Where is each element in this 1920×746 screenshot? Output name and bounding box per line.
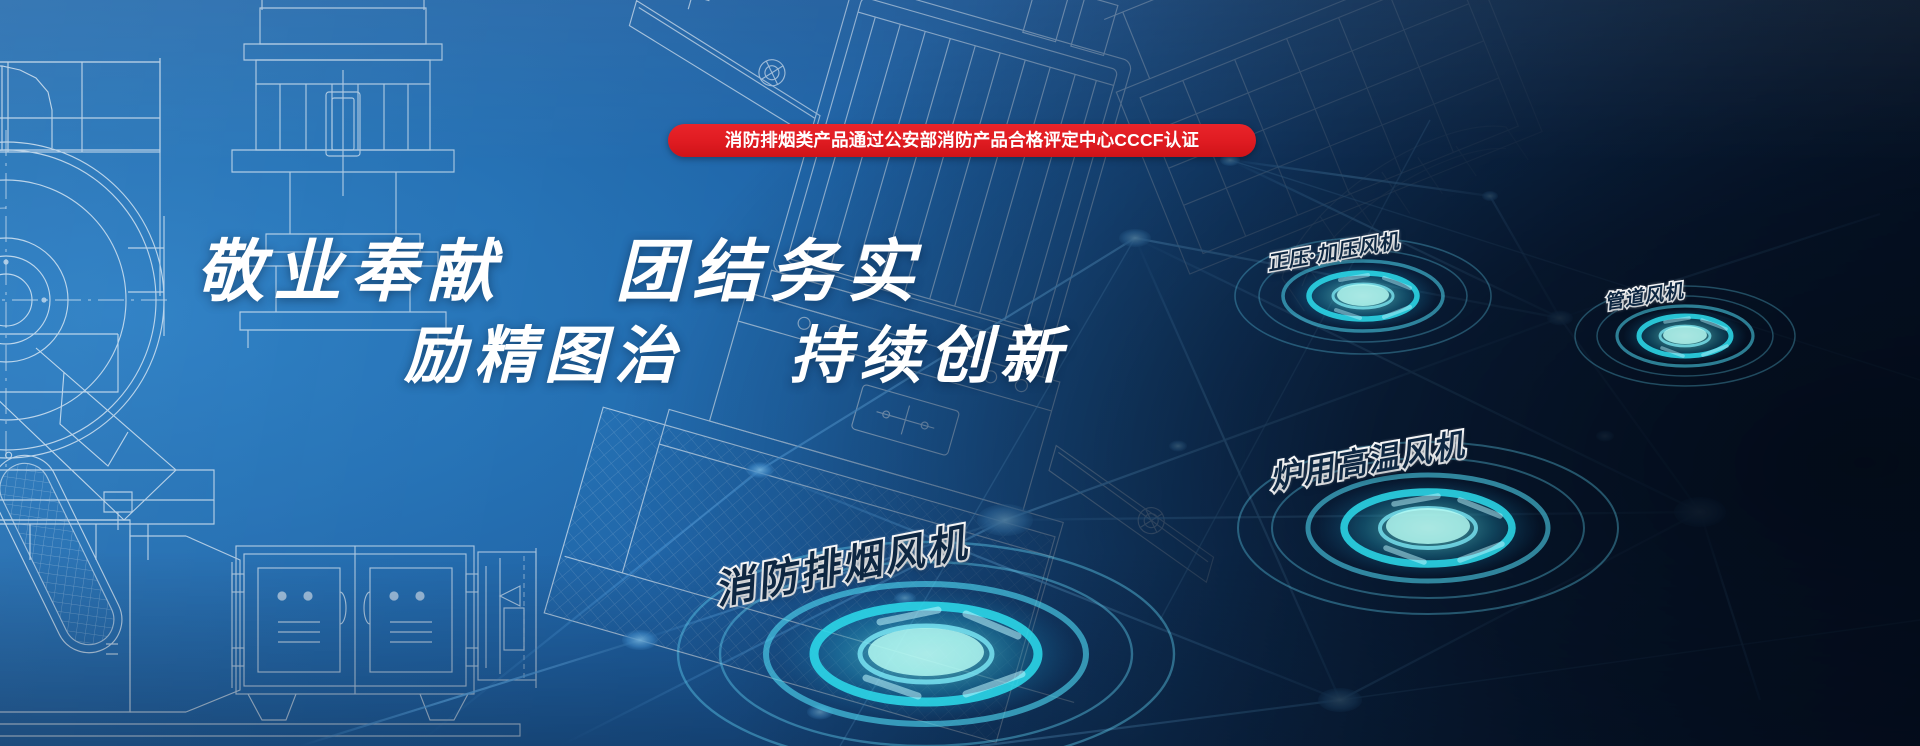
slogan-line2-part1: 励精图治 (404, 319, 684, 392)
certification-badge[interactable]: 消防排烟类产品通过公安部消防产品合格评定中心CCCF认证 (668, 124, 1256, 157)
slogan-block: 敬业奉献 团结务实 励精图治 持续创新 (0, 236, 1120, 393)
certification-text: 消防排烟类产品通过公安部消防产品合格评定中心CCCF认证 (725, 132, 1199, 150)
slogan-line-1: 敬业奉献 团结务实 (0, 236, 1120, 309)
hero-banner: 消防排烟风机 (0, 0, 1920, 746)
slogan-line1-part2: 团结务实 (615, 232, 923, 312)
slogan-line1-part1: 敬业奉献 (196, 232, 504, 312)
slogan-line-2: 励精图治 持续创新 (0, 319, 1120, 392)
slogan-line2-part2: 持续创新 (789, 319, 1069, 392)
